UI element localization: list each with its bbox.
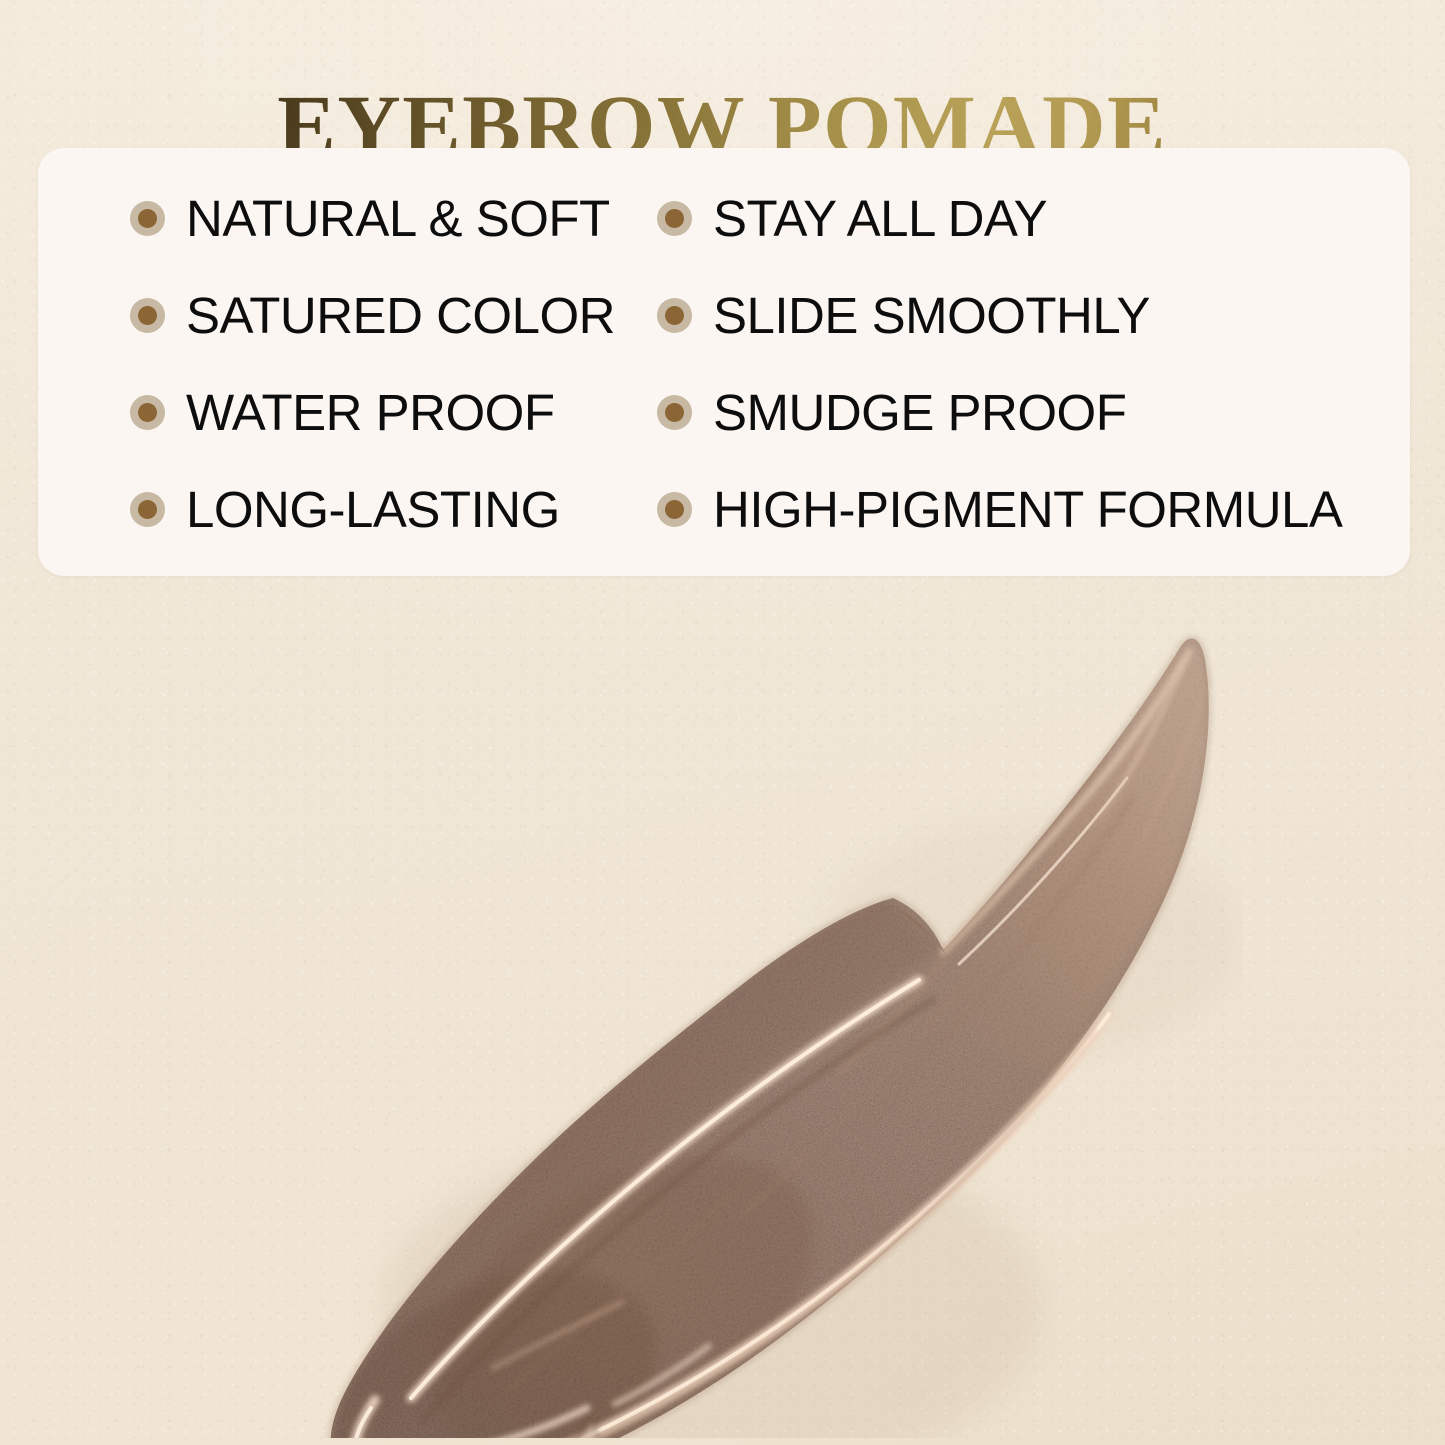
bullet-dot-icon (657, 395, 692, 430)
feature-label: STAY ALL DAY (713, 193, 1047, 244)
bullet-dot-icon (657, 201, 692, 236)
bullet-dot-icon (657, 492, 692, 527)
product-swatch-area (0, 590, 1445, 1445)
feature-item-slide-smoothly: SLIDE SMOOTHLY (645, 267, 1410, 364)
feature-item-high-pigment-formula: HIGH-PIGMENT FORMULA (645, 461, 1410, 558)
bullet-dot-icon (130, 395, 165, 430)
feature-label: SATURED COLOR (186, 290, 615, 341)
feature-list-card: NATURAL & SOFT STAY ALL DAY SATURED COLO… (38, 148, 1410, 576)
feature-item-natural-and-soft: NATURAL & SOFT (38, 170, 645, 267)
feature-item-satured-color: SATURED COLOR (38, 267, 645, 364)
feature-label: WATER PROOF (186, 387, 554, 438)
feature-grid: NATURAL & SOFT STAY ALL DAY SATURED COLO… (38, 148, 1410, 576)
feature-label: LONG-LASTING (186, 484, 560, 535)
feature-item-smudge-proof: SMUDGE PROOF (645, 364, 1410, 461)
feature-item-water-proof: WATER PROOF (38, 364, 645, 461)
pomade-swatch-graphic (243, 608, 1243, 1438)
feature-item-stay-all-day: STAY ALL DAY (645, 170, 1410, 267)
bullet-dot-icon (130, 298, 165, 333)
feature-label: SMUDGE PROOF (713, 387, 1126, 438)
product-infographic: EYEBROW POMADE NATURAL & SOFT STAY ALL D… (0, 0, 1445, 1445)
bullet-dot-icon (130, 492, 165, 527)
feature-item-long-lasting: LONG-LASTING (38, 461, 645, 558)
feature-label: HIGH-PIGMENT FORMULA (713, 484, 1342, 535)
bullet-dot-icon (130, 201, 165, 236)
feature-label: SLIDE SMOOTHLY (713, 290, 1150, 341)
bullet-dot-icon (657, 298, 692, 333)
feature-label: NATURAL & SOFT (186, 193, 610, 244)
pomade-swatch-image (243, 608, 1243, 1438)
